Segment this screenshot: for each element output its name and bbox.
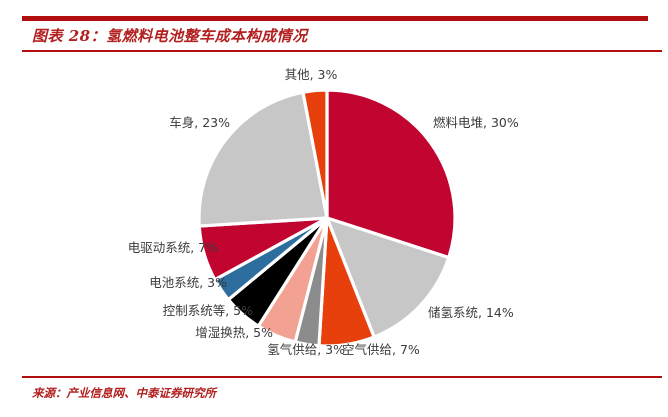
slice-label-control-system: 控制系统等, 5% (163, 305, 253, 318)
slice-label-vehicle-body: 车身, 23% (169, 117, 230, 130)
header-top-rule (22, 16, 648, 21)
figure-title-bar: 图表 28：氢燃料电池整车成本构成情况 (22, 23, 648, 50)
slice-label-humidification-heat-exchange: 增湿换热, 5% (195, 327, 273, 340)
pie-chart: 燃料电堆, 30% 储氢系统, 14% 空气供给, 7% 氢气供给, 3% 增湿… (0, 55, 668, 373)
slice-label-fuel-cell-stack: 燃料电堆, 30% (433, 117, 519, 130)
footer-rule (22, 376, 662, 378)
source-note: 来源：产业信息网、中泰证券研究所 (32, 385, 216, 401)
slice-label-air-supply: 空气供给, 7% (342, 344, 420, 357)
slice-label-hydrogen-storage: 储氢系统, 14% (428, 307, 514, 320)
slice-label-other: 其他, 3% (285, 69, 338, 82)
header-bottom-rule (22, 50, 662, 52)
figure-container: 图表 28：氢燃料电池整车成本构成情况 燃料电堆, 30% 储氢系统, 14% … (0, 0, 668, 417)
slice-label-hydrogen-supply: 氢气供给, 3% (267, 344, 345, 357)
page-title: 图表 28：氢燃料电池整车成本构成情况 (32, 25, 308, 46)
slice-label-battery-system: 电池系统, 3% (149, 277, 227, 290)
pie-chart-svg (0, 55, 668, 373)
slice-label-electric-drive-system: 电驱动系统, 7% (128, 242, 218, 255)
